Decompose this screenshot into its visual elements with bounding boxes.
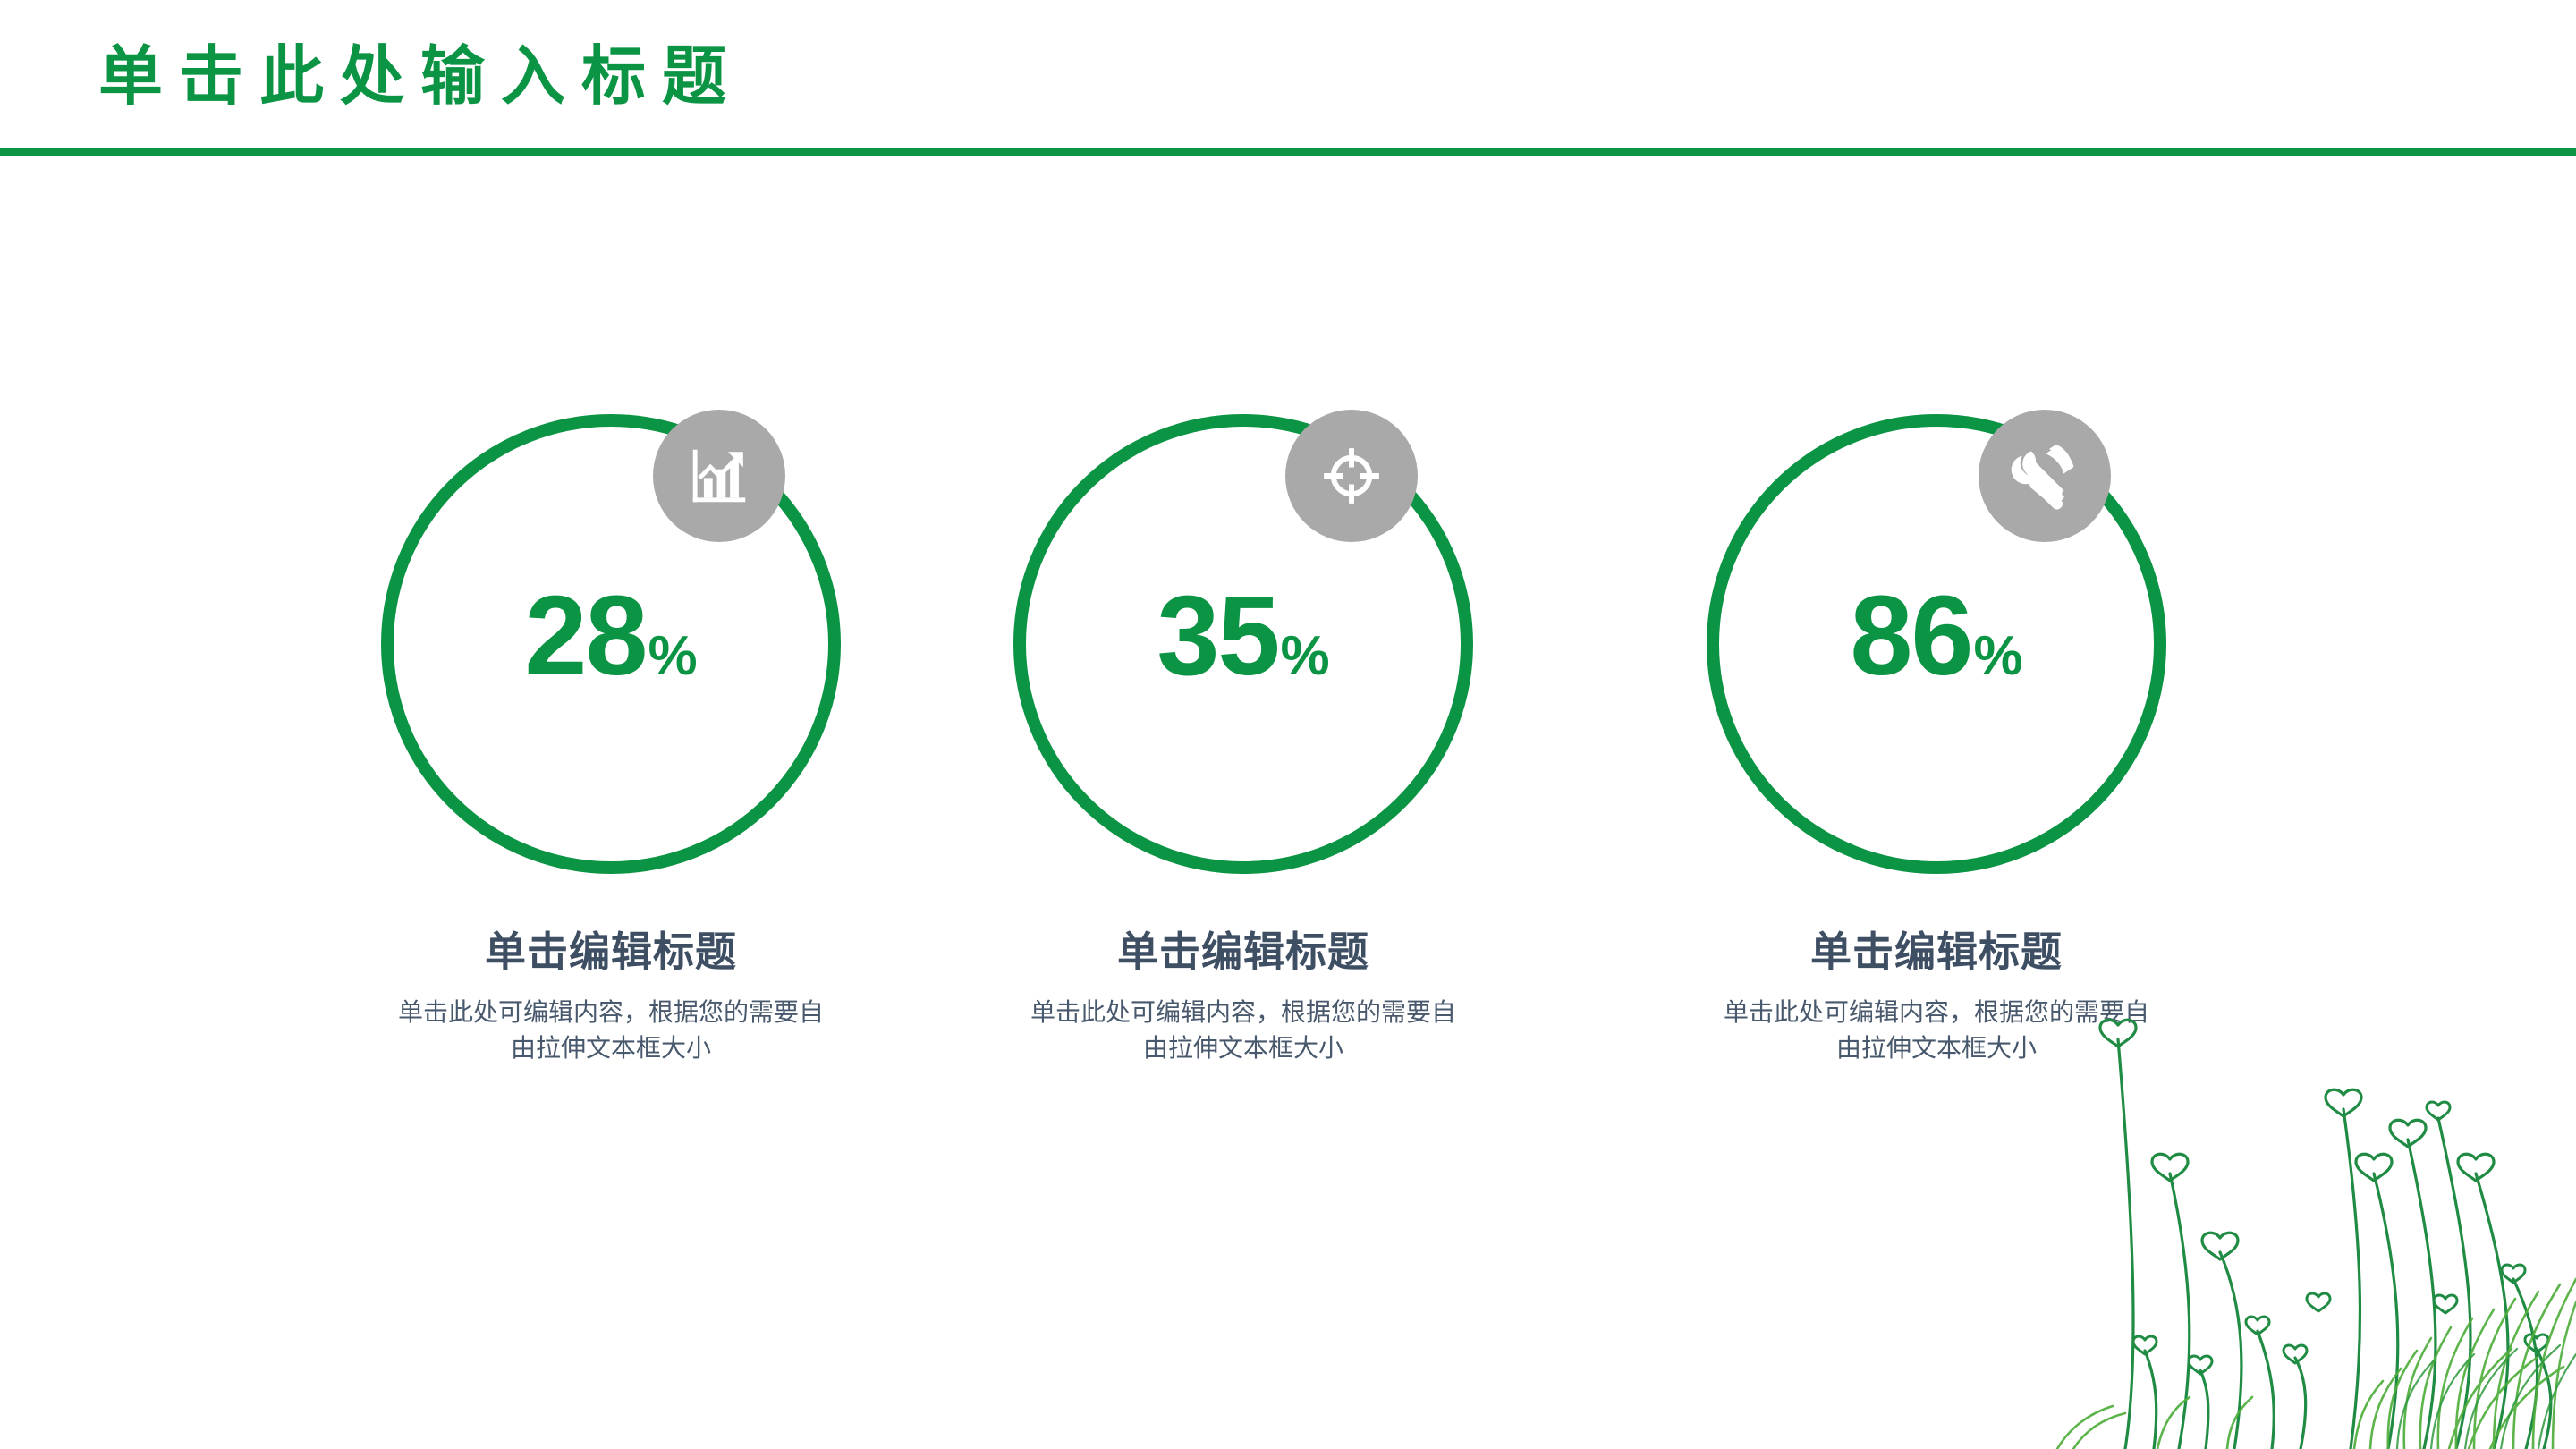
stat-description-3: 单击此处可编辑内容，根据您的需要自由拉伸文本框大小 [1713, 995, 2160, 1066]
hammer-wrench-tools-icon [2009, 440, 2080, 512]
bar-chart-growth-icon [684, 441, 754, 511]
stat-percent-sign-1: % [648, 625, 698, 687]
stat-percent-sign-2: % [1281, 625, 1330, 687]
badge-1[interactable] [653, 410, 785, 542]
progress-ring-2: 35% [993, 385, 1494, 894]
progress-ring-1: 28% [360, 385, 861, 894]
stat-percent-sign-3: % [1974, 625, 2023, 687]
page-title: 单击此处输入标题 [98, 30, 742, 123]
crosshair-target-icon [1318, 442, 1385, 510]
slide-header: 单击此处输入标题 [0, 0, 2576, 161]
stat-card-1[interactable]: 28% 单击编辑标题 单击此处可编辑内容，根据您的需要自由拉伸文本框大小 [271, 385, 951, 1118]
stat-number-3: 86 [1850, 572, 1971, 699]
stat-heading-3: 单击编辑标题 [1597, 919, 2276, 979]
stat-value-1: 28% [360, 580, 861, 692]
stat-heading-2: 单击编辑标题 [903, 919, 1583, 979]
badge-3[interactable] [1979, 410, 2111, 542]
stat-number-1: 28 [524, 572, 646, 699]
progress-ring-3: 86% [1686, 385, 2187, 894]
stat-card-2[interactable]: 35% 单击编辑标题 单击此处可编辑内容，根据您的需要自由拉伸文本框大小 [903, 385, 1583, 1118]
stat-description-1: 单击此处可编辑内容，根据您的需要自由拉伸文本框大小 [387, 995, 835, 1066]
header-divider-rule [0, 148, 2576, 156]
stat-heading-1: 单击编辑标题 [271, 919, 951, 979]
stat-value-2: 35% [993, 580, 1494, 692]
stat-value-3: 86% [1686, 580, 2187, 692]
stat-description-2: 单击此处可编辑内容，根据您的需要自由拉伸文本框大小 [1020, 995, 1467, 1066]
badge-2[interactable] [1285, 410, 1418, 542]
stat-number-2: 35 [1157, 572, 1278, 699]
stats-row: 28% 单击编辑标题 单击此处可编辑内容，根据您的需要自由拉伸文本框大小 [0, 385, 2576, 1118]
stat-card-3[interactable]: 86% 单击编辑标题 单击此处可编辑内容，根据您的需要自由拉伸文本框大小 [1597, 385, 2276, 1118]
